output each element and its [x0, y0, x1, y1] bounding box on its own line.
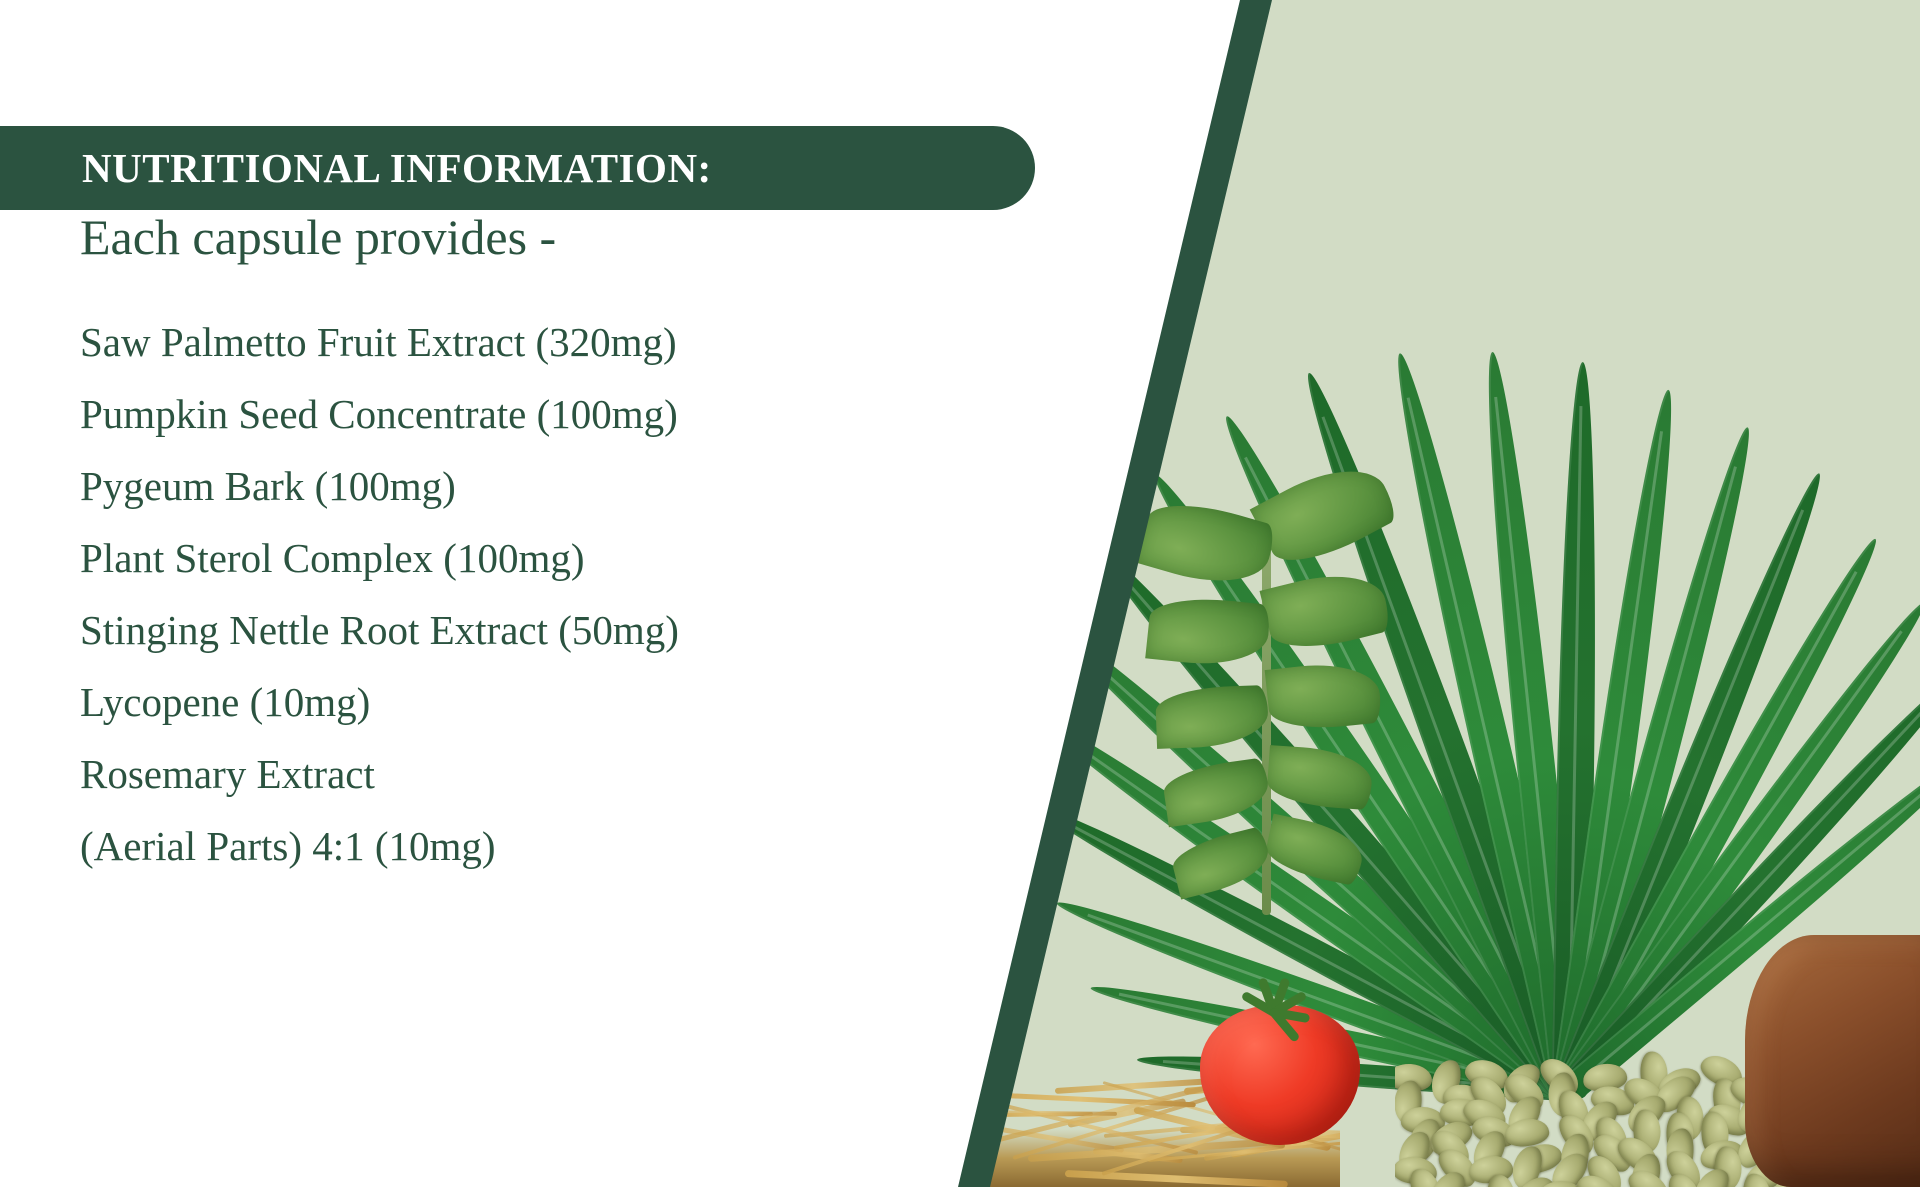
nettle-leaf: [1161, 757, 1272, 827]
ingredient-item: Pumpkin Seed Concentrate (100mg): [80, 378, 679, 450]
subtitle: Each capsule provides -: [80, 208, 556, 266]
tomato-calyx-icon: [1238, 990, 1318, 1032]
nettle-leaf: [1155, 685, 1269, 749]
nettle-leaf: [1262, 814, 1367, 887]
ingredient-list: Saw Palmetto Fruit Extract (320mg)Pumpki…: [80, 306, 679, 882]
ingredient-item: Stinging Nettle Root Extract (50mg): [80, 594, 679, 666]
nettle-leaf: [1265, 658, 1383, 733]
nettle-leaf: [1266, 745, 1374, 810]
ingredient-item: Plant Sterol Complex (100mg): [80, 522, 679, 594]
pygeum-bark-secondary-icon: [1690, 1040, 1870, 1187]
nettle-leaf: [1260, 562, 1393, 659]
ingredient-item: Saw Palmetto Fruit Extract (320mg): [80, 306, 679, 378]
page-title: NUTRITIONAL INFORMATION:: [82, 144, 712, 192]
nutrition-panel-page: NUTRITIONAL INFORMATION: Each capsule pr…: [0, 0, 1920, 1187]
nutritional-information-banner: NUTRITIONAL INFORMATION:: [0, 126, 1035, 210]
nettle-leaf: [1145, 593, 1271, 671]
ingredient-item: Lycopene (10mg): [80, 666, 679, 738]
ingredient-item: (Aerial Parts) 4:1 (10mg): [80, 810, 679, 882]
stinging-nettle-plant-icon: [1150, 495, 1480, 965]
ingredient-item: Rosemary Extract: [80, 738, 679, 810]
nettle-leaf: [1169, 826, 1275, 900]
ingredient-item: Pygeum Bark (100mg): [80, 450, 679, 522]
